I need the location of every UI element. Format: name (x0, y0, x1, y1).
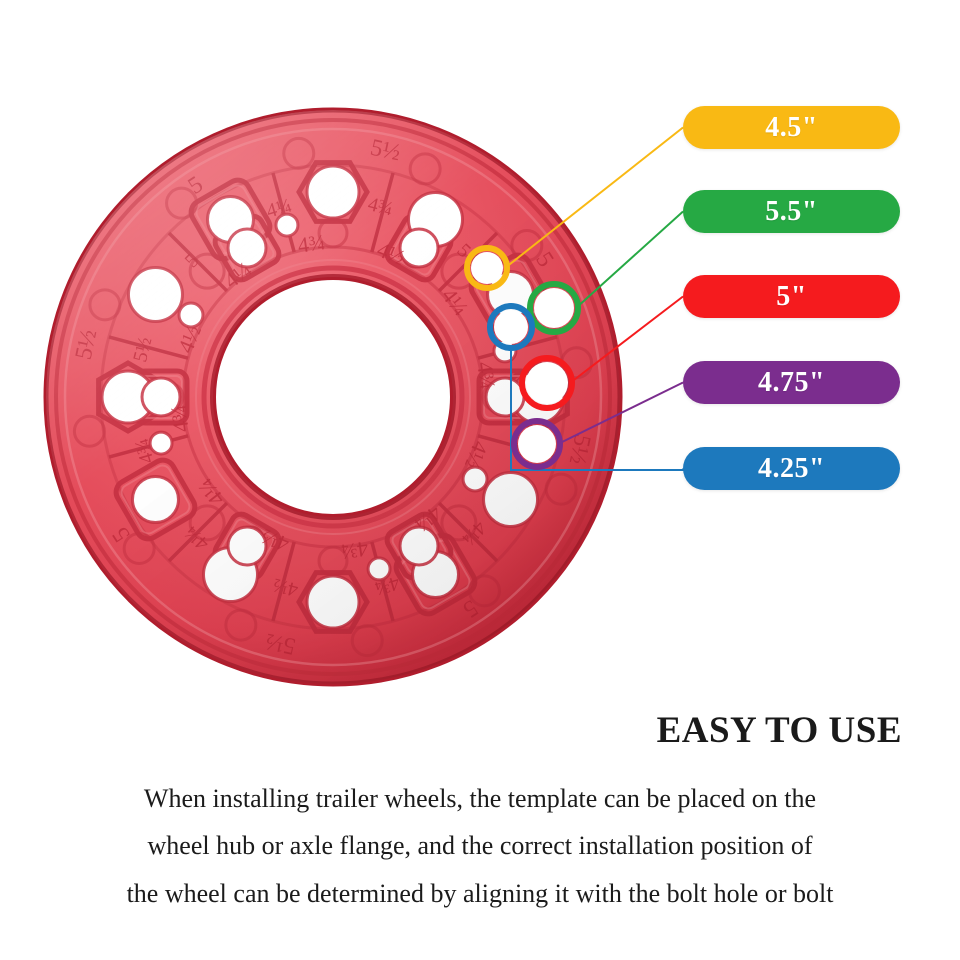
callout-5-5-pill[interactable]: 5.5" (683, 190, 900, 233)
callout-4-75-label: 4.75" (758, 367, 825, 399)
infographic-stage: 5½55½55½55½54½4¼4¾4½4¼4¾4½4¼4¾4½4¼4¾5½54… (0, 0, 960, 960)
callout-4-75-pill[interactable]: 4.75" (683, 361, 900, 404)
callout-4-75-highlight-ring (514, 421, 560, 467)
callout-5-5-label: 5.5" (765, 196, 818, 228)
callout-4-25-pill[interactable]: 4.25" (683, 447, 900, 490)
callout-4-25-highlight-ring (490, 306, 532, 348)
callout-4-5-highlight-ring (467, 248, 507, 288)
callout-5-5-connector (576, 212, 683, 309)
callout-5-pill[interactable]: 5" (683, 275, 900, 318)
body-copy: When installing trailer wheels, the temp… (0, 775, 960, 917)
callout-4-5-label: 4.5" (765, 112, 818, 144)
page-title: EASY TO USE (0, 712, 960, 749)
callout-4-25-label: 4.25" (758, 453, 825, 485)
copy-block: EASY TO USE When installing trailer whee… (0, 712, 960, 917)
callout-5-highlight-ring (522, 358, 572, 408)
callout-5-5-highlight-ring (530, 284, 578, 332)
body-copy-line: the wheel can be determined by aligning … (48, 870, 912, 917)
body-copy-line: wheel hub or axle flange, and the correc… (48, 822, 912, 869)
callout-4-5-pill[interactable]: 4.5" (683, 106, 900, 149)
callout-5-label: 5" (776, 281, 807, 313)
body-copy-line: When installing trailer wheels, the temp… (48, 775, 912, 822)
